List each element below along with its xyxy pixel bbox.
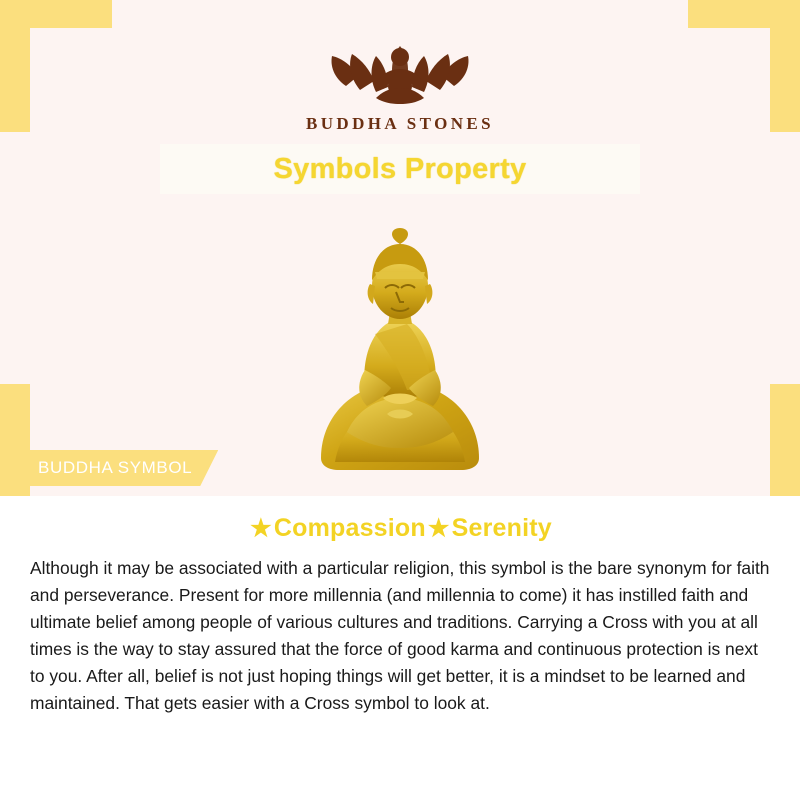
star-icon-left: ★ [250,515,272,542]
content-panel: ★Compassion★Serenity Although it may be … [0,496,800,800]
brand-logo-block: BUDDHA STONES [0,24,800,134]
body-paragraph: Although it may be associated with a par… [30,555,770,717]
headline-word-two: Serenity [452,514,552,542]
title-band: Symbols Property [160,144,640,194]
poster-page: BUDDHA STONES Symbols Property [0,0,800,800]
page-title: Symbols Property [274,153,527,186]
symbol-ribbon: BUDDHA SYMBOL [16,450,218,486]
brand-name: BUDDHA STONES [0,114,800,134]
headline: ★Compassion★Serenity [0,514,800,543]
seated-buddha-icon [295,200,505,495]
ribbon-label: BUDDHA SYMBOL [38,458,192,478]
star-icon-right: ★ [428,515,450,542]
lotus-meditation-figure-icon [0,24,800,110]
buddha-illustration [0,200,800,490]
headline-word-one: Compassion [274,514,426,542]
